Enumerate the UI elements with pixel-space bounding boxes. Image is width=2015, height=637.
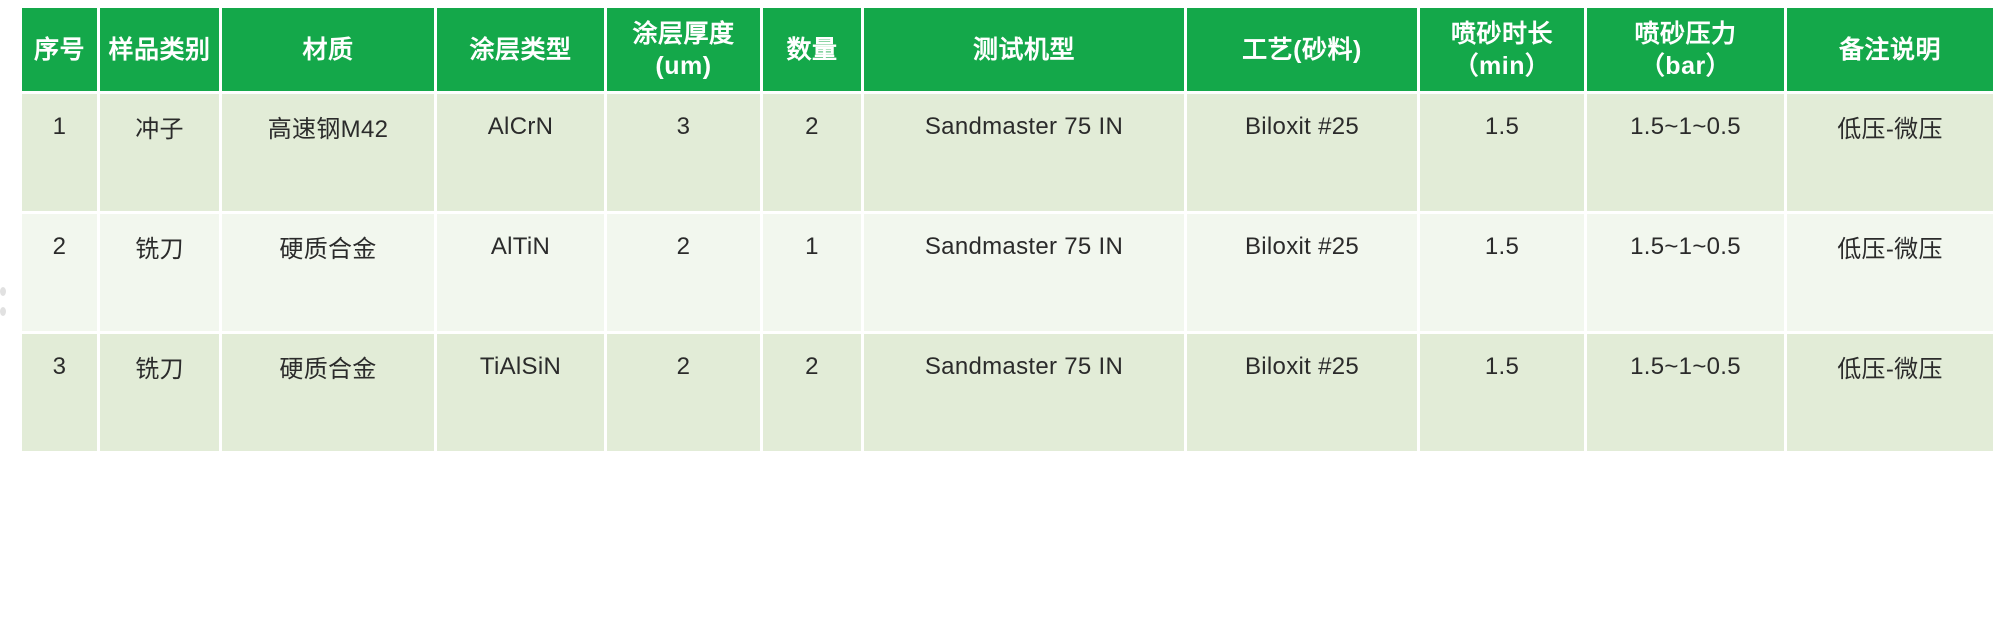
column-header-unit: (um) (611, 50, 756, 82)
cell-test-machine[interactable]: Sandmaster 75 IN (864, 334, 1187, 454)
cell-sample-category[interactable]: 冲子 (100, 94, 222, 214)
column-header-label: 备注说明 (1839, 36, 1941, 64)
column-header-remark[interactable]: 备注说明 (1787, 8, 1993, 94)
column-header-label: 样品类别 (108, 36, 210, 64)
cell-coating-type[interactable]: AlCrN (437, 94, 607, 214)
cell-blast-time[interactable]: 1.5 (1420, 94, 1587, 214)
sandblast-test-parameter-table: 序号 样品类别 材质 涂层类型 涂层厚度 (um) 数量 (22, 8, 1993, 454)
cell-test-machine[interactable]: Sandmaster 75 IN (864, 214, 1187, 334)
cell-blast-time[interactable]: 1.5 (1420, 334, 1587, 454)
cell-index[interactable]: 3 (22, 334, 100, 454)
column-header-coating-thickness[interactable]: 涂层厚度 (um) (607, 8, 763, 94)
column-header-label: 材质 (302, 36, 353, 64)
cell-quantity[interactable]: 2 (763, 334, 864, 454)
table-row[interactable]: 3 铣刀 硬质合金 TiAlSiN 2 2 Sandmaster 75 IN B… (22, 334, 1993, 454)
cell-process-media[interactable]: Biloxit #25 (1187, 334, 1420, 454)
column-header-process-media[interactable]: 工艺(砂料) (1187, 8, 1420, 94)
column-header-label: 喷砂压力 (1634, 20, 1736, 48)
column-header-quantity[interactable]: 数量 (763, 8, 864, 94)
cell-coating-thickness[interactable]: 3 (607, 94, 763, 214)
cell-material[interactable]: 硬质合金 (222, 334, 437, 454)
column-header-material[interactable]: 材质 (222, 8, 437, 94)
cell-sample-category[interactable]: 铣刀 (100, 334, 222, 454)
column-header-label: 涂层厚度 (632, 20, 734, 48)
left-margin-speck-icon (0, 307, 6, 316)
column-header-blast-pressure[interactable]: 喷砂压力 （bar） (1587, 8, 1787, 94)
column-header-label: 序号 (34, 36, 85, 64)
cell-index[interactable]: 2 (22, 214, 100, 334)
cell-process-media[interactable]: Biloxit #25 (1187, 94, 1420, 214)
column-header-label: 数量 (786, 36, 837, 64)
table-header-row: 序号 样品类别 材质 涂层类型 涂层厚度 (um) 数量 (22, 8, 1993, 94)
column-header-label: 喷砂时长 (1451, 20, 1553, 48)
cell-coating-type[interactable]: TiAlSiN (437, 334, 607, 454)
cell-coating-type[interactable]: AlTiN (437, 214, 607, 334)
column-header-coating-type[interactable]: 涂层类型 (437, 8, 607, 94)
cell-process-media[interactable]: Biloxit #25 (1187, 214, 1420, 334)
table-row[interactable]: 1 冲子 高速钢M42 AlCrN 3 2 Sandmaster 75 IN B… (22, 94, 1993, 214)
table-row[interactable]: 2 铣刀 硬质合金 AlTiN 2 1 Sandmaster 75 IN Bil… (22, 214, 1993, 334)
column-header-unit: （min） (1424, 50, 1580, 82)
table-body: 1 冲子 高速钢M42 AlCrN 3 2 Sandmaster 75 IN B… (22, 94, 1993, 454)
cell-coating-thickness[interactable]: 2 (607, 334, 763, 454)
column-header-label: 测试机型 (973, 36, 1075, 64)
left-margin-speck-icon (0, 287, 6, 296)
table-header-row-group: 序号 样品类别 材质 涂层类型 涂层厚度 (um) 数量 (22, 8, 1993, 94)
cell-remark[interactable]: 低压-微压 (1787, 214, 1993, 334)
column-header-sample-category[interactable]: 样品类别 (100, 8, 222, 94)
cell-blast-pressure[interactable]: 1.5~1~0.5 (1587, 94, 1787, 214)
column-header-blast-time[interactable]: 喷砂时长 （min） (1420, 8, 1587, 94)
cell-blast-pressure[interactable]: 1.5~1~0.5 (1587, 334, 1787, 454)
spreadsheet-canvas: 序号 样品类别 材质 涂层类型 涂层厚度 (um) 数量 (0, 0, 2015, 637)
cell-quantity[interactable]: 1 (763, 214, 864, 334)
column-header-label: 工艺(砂料) (1242, 36, 1362, 64)
cell-test-machine[interactable]: Sandmaster 75 IN (864, 94, 1187, 214)
cell-material[interactable]: 硬质合金 (222, 214, 437, 334)
cell-remark[interactable]: 低压-微压 (1787, 334, 1993, 454)
column-header-label: 涂层类型 (469, 36, 571, 64)
cell-material[interactable]: 高速钢M42 (222, 94, 437, 214)
cell-coating-thickness[interactable]: 2 (607, 214, 763, 334)
cell-blast-time[interactable]: 1.5 (1420, 214, 1587, 334)
column-header-test-machine[interactable]: 测试机型 (864, 8, 1187, 94)
cell-index[interactable]: 1 (22, 94, 100, 214)
column-header-index[interactable]: 序号 (22, 8, 100, 94)
cell-blast-pressure[interactable]: 1.5~1~0.5 (1587, 214, 1787, 334)
cell-remark[interactable]: 低压-微压 (1787, 94, 1993, 214)
column-header-unit: （bar） (1591, 50, 1780, 82)
cell-quantity[interactable]: 2 (763, 94, 864, 214)
cell-sample-category[interactable]: 铣刀 (100, 214, 222, 334)
